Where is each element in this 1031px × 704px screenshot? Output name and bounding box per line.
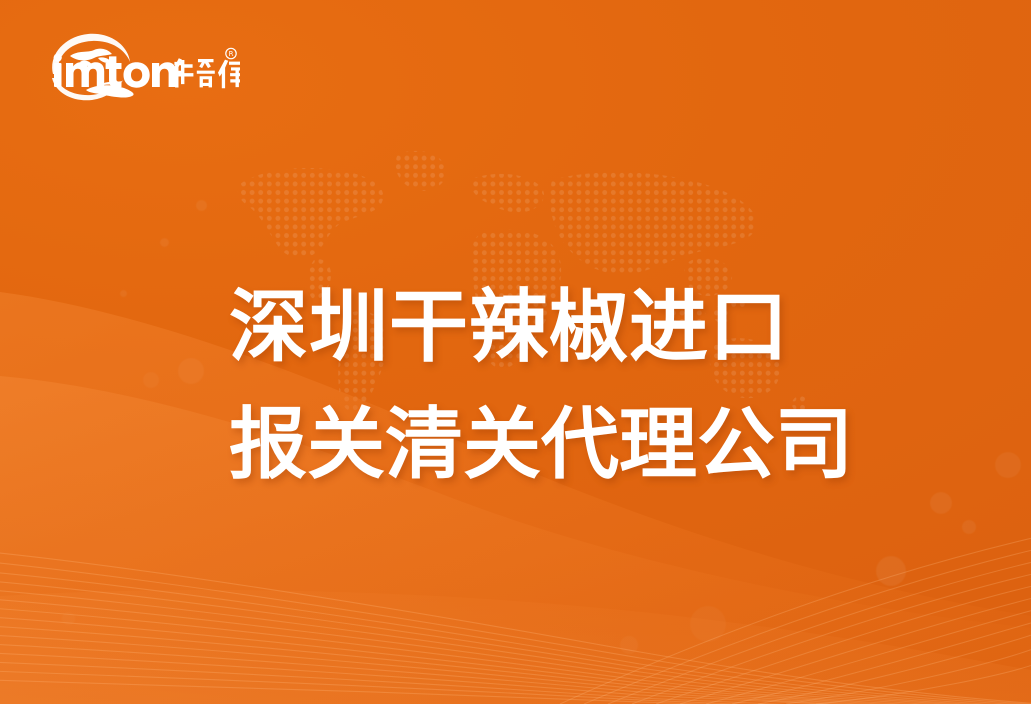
promo-banner: R 深圳干辣椒进口 报关清关代理公司 — [0, 0, 1031, 704]
headline: 深圳干辣椒进口 报关清关代理公司 — [229, 268, 989, 504]
registered-mark: R — [226, 48, 236, 58]
headline-line-1: 深圳干辣椒进口 — [229, 268, 989, 386]
headline-line-2: 报关清关代理公司 — [229, 386, 989, 504]
brand-logo[interactable]: R — [40, 28, 240, 104]
svg-text:R: R — [229, 50, 234, 58]
